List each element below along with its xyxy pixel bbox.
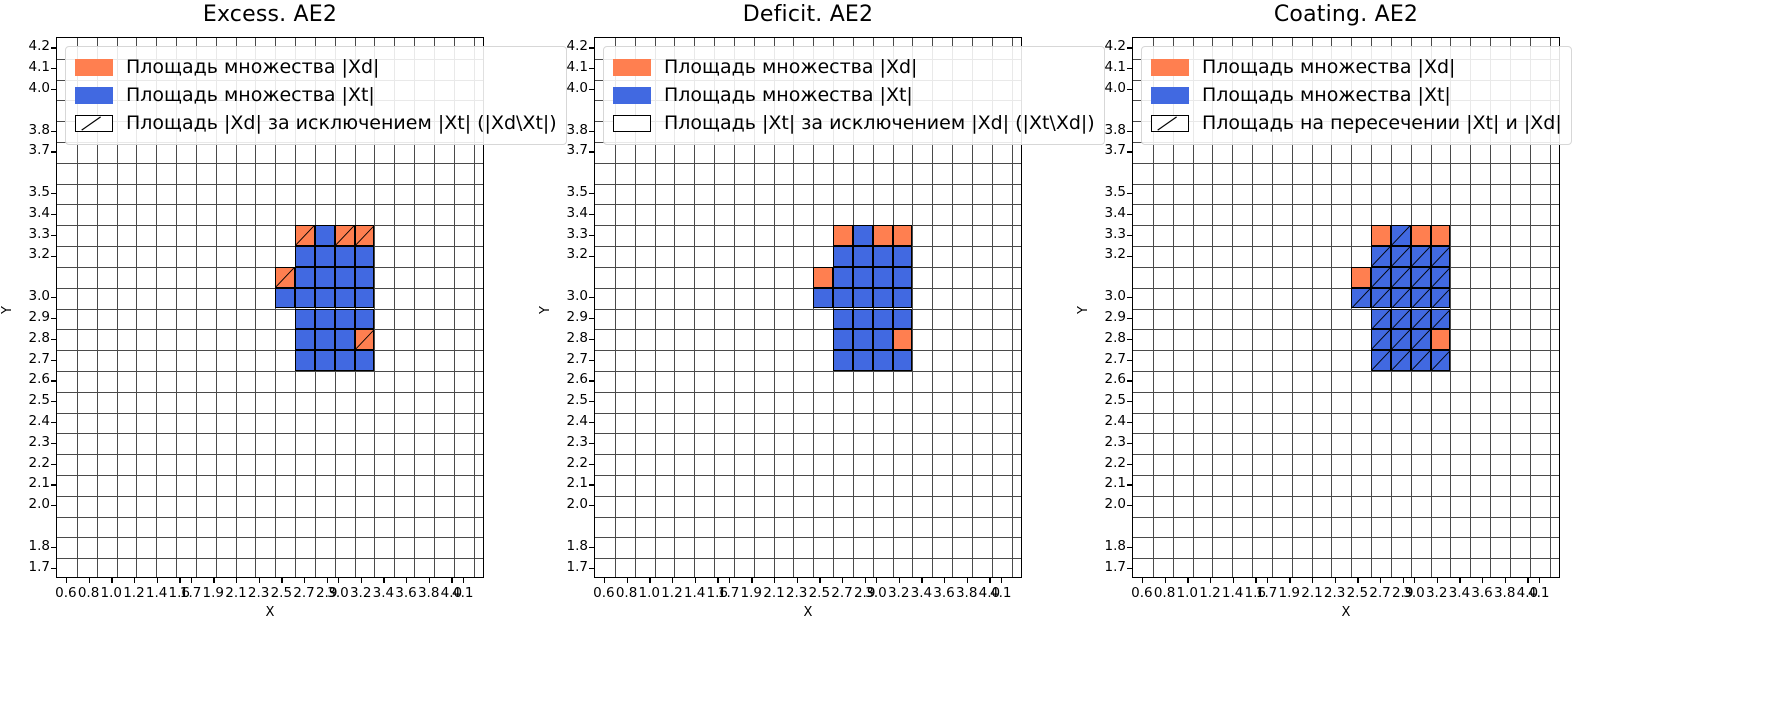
hatch-pattern [1372, 289, 1390, 308]
y-tick-mark [1127, 151, 1132, 152]
legend-row: Площадь множества |Xt| [613, 81, 1095, 109]
grid-cell [1411, 267, 1431, 288]
legend-swatch-xd [75, 59, 113, 76]
x-tick-mark [1165, 578, 1166, 583]
hatch-pattern [1152, 116, 1188, 131]
legend-row: Площадь на пересечении |Xt| и |Xd| [1151, 109, 1562, 137]
hatch-pattern [1392, 330, 1410, 349]
hatch-pattern [1412, 330, 1430, 349]
y-tick-mark [1127, 68, 1132, 69]
y-tick-mark [1127, 422, 1132, 423]
y-tick-mark [1127, 568, 1132, 569]
legend-excess: Площадь множества |Xd|Площадь множества … [65, 46, 567, 145]
grid-cell [1391, 288, 1411, 309]
legend-swatch-xd [613, 59, 651, 76]
hatch-pattern [1412, 247, 1430, 266]
panel-title-coating: Coating. AE2 [1132, 2, 1560, 27]
y-tick-label: 3.4 [1094, 205, 1126, 221]
y-tick-label: 2.2 [1094, 455, 1126, 471]
x-tick-mark [1210, 578, 1211, 583]
y-axis-label: Y [1076, 306, 1091, 314]
hatch-pattern [1352, 289, 1370, 308]
y-tick-mark [1127, 89, 1132, 90]
grid-cell [1411, 225, 1431, 246]
legend-row: Площадь множества |Xd| [75, 53, 557, 81]
hatch-pattern [1392, 310, 1410, 329]
y-tick-mark [1127, 47, 1132, 48]
y-tick-mark [1127, 131, 1132, 132]
x-tick-mark [1357, 578, 1358, 583]
y-tick-mark [1127, 484, 1132, 485]
hatch-pattern [76, 116, 112, 131]
legend-label: Площадь на пересечении |Xt| и |Xd| [1202, 114, 1562, 133]
hatch-pattern [1392, 268, 1410, 287]
hatch-pattern [1432, 268, 1450, 287]
y-tick-label: 3.0 [1094, 288, 1126, 304]
grid-cell [1371, 309, 1391, 330]
x-tick-mark [1505, 578, 1506, 583]
grid-cell [1391, 225, 1411, 246]
legend-swatch-hatch [1151, 115, 1189, 132]
legend-row: Площадь множества |Xt| [1151, 81, 1562, 109]
y-tick-mark [1127, 443, 1132, 444]
y-tick-label: 2.6 [1094, 371, 1126, 387]
x-tick-mark [1289, 578, 1290, 583]
x-tick-mark [1335, 578, 1336, 583]
legend-label: Площадь множества |Xt| [664, 86, 913, 105]
y-tick-mark [1127, 297, 1132, 298]
grid-cell [1411, 329, 1431, 350]
y-tick-label: 3.2 [1094, 246, 1126, 262]
y-tick-mark [1127, 256, 1132, 257]
legend-coating: Площадь множества |Xd|Площадь множества … [1141, 46, 1572, 145]
x-tick-mark [1142, 578, 1143, 583]
hatch-pattern [1372, 310, 1390, 329]
y-tick-label: 3.3 [1094, 226, 1126, 242]
y-tick-mark [1127, 193, 1132, 194]
hatch-pattern [1392, 351, 1410, 370]
x-tick-mark [1437, 578, 1438, 583]
y-tick-label: 2.0 [1094, 496, 1126, 512]
legend-label: Площадь множества |Xd| [1202, 58, 1455, 77]
x-tick-mark [1459, 578, 1460, 583]
y-tick-mark [1127, 339, 1132, 340]
x-tick-mark [1414, 578, 1415, 583]
grid-cell [1371, 288, 1391, 309]
grid-cell [1411, 288, 1431, 309]
hatch-pattern [1432, 310, 1450, 329]
y-tick-mark [1127, 505, 1132, 506]
y-tick-label: 1.7 [1094, 559, 1126, 575]
x-tick-mark [1527, 578, 1528, 583]
hatch-pattern [1372, 330, 1390, 349]
grid-cell [1411, 350, 1431, 371]
y-tick-mark [1127, 464, 1132, 465]
legend-row: Площадь |Xt| за исключением |Xd| (|Xt\Xd… [613, 109, 1095, 137]
y-tick-mark [1127, 547, 1132, 548]
grid-cell [1391, 246, 1411, 267]
grid-cell [1371, 225, 1391, 246]
grid-cell [1351, 288, 1371, 309]
legend-swatch-hatch [75, 115, 113, 132]
y-tick-mark [1127, 360, 1132, 361]
x-axis-label: X [1132, 605, 1560, 620]
legend-label: Площадь |Xd| за исключением |Xt| (|Xd\Xt… [126, 114, 557, 133]
grid-cell [1351, 267, 1371, 288]
grid-cell [1391, 309, 1411, 330]
hatch-pattern [1432, 247, 1450, 266]
grid-cell [1411, 309, 1431, 330]
legend-deficit: Площадь множества |Xd|Площадь множества … [603, 46, 1105, 145]
y-tick-label: 2.4 [1094, 413, 1126, 429]
hatch-pattern [1372, 351, 1390, 370]
grid-cell [1391, 329, 1411, 350]
hatch-pattern [1412, 289, 1430, 308]
x-tick-mark [1233, 578, 1234, 583]
hatch-pattern [1432, 351, 1450, 370]
x-tick-mark [1255, 578, 1256, 583]
legend-swatch-xt [613, 87, 651, 104]
hatch-pattern [1412, 310, 1430, 329]
grid-cell [1431, 225, 1451, 246]
y-tick-label: 2.3 [1094, 434, 1126, 450]
x-tick-mark [1539, 578, 1540, 583]
hatch-pattern [1392, 226, 1410, 245]
x-tick-mark [1312, 578, 1313, 583]
grid-cell [1391, 350, 1411, 371]
y-tick-label: 2.7 [1094, 351, 1126, 367]
legend-label: Площадь |Xt| за исключением |Xd| (|Xt\Xd… [664, 114, 1095, 133]
grid-cell [1431, 267, 1451, 288]
hatch-pattern [1432, 289, 1450, 308]
grid-cell [1391, 267, 1411, 288]
legend-label: Площадь множества |Xd| [126, 58, 379, 77]
grid-cell [1371, 246, 1391, 267]
legend-row: Площадь множества |Xt| [75, 81, 557, 109]
y-tick-mark [1127, 318, 1132, 319]
x-tick-label: 4.1 [1525, 585, 1553, 601]
grid-cell [1371, 350, 1391, 371]
grid-cell [1411, 246, 1431, 267]
hatch-pattern [1412, 351, 1430, 370]
grid-cell [1431, 329, 1451, 350]
grid-cell [1431, 309, 1451, 330]
x-tick-mark [1482, 578, 1483, 583]
legend-label: Площадь множества |Xd| [664, 58, 917, 77]
y-tick-label: 2.5 [1094, 392, 1126, 408]
legend-swatch-xt [75, 87, 113, 104]
y-tick-mark [1127, 214, 1132, 215]
y-tick-mark [1127, 235, 1132, 236]
y-tick-label: 3.5 [1094, 184, 1126, 200]
grid-cell [1371, 267, 1391, 288]
x-tick-mark [1267, 578, 1268, 583]
legend-swatch-xt [1151, 87, 1189, 104]
legend-label: Площадь множества |Xt| [1202, 86, 1451, 105]
hatch-pattern [1412, 268, 1430, 287]
grid-cell [1431, 246, 1451, 267]
y-tick-mark [1127, 401, 1132, 402]
legend-row: Площадь |Xd| за исключением |Xt| (|Xd\Xt… [75, 109, 557, 137]
y-tick-label: 1.8 [1094, 538, 1126, 554]
grid-cell [1431, 350, 1451, 371]
hatch-pattern [1372, 268, 1390, 287]
y-tick-label: 2.9 [1094, 309, 1126, 325]
legend-row: Площадь множества |Xd| [1151, 53, 1562, 81]
grid-cell [1371, 329, 1391, 350]
hatch-pattern [1392, 247, 1410, 266]
figure-root: Excess. AE21.71.82.02.12.22.32.42.52.62.… [0, 0, 1787, 709]
x-tick-mark [1403, 578, 1404, 583]
hatch-pattern [1392, 289, 1410, 308]
y-tick-label: 2.1 [1094, 475, 1126, 491]
y-tick-mark [1127, 380, 1132, 381]
x-tick-mark [1187, 578, 1188, 583]
legend-swatch-xd [1151, 59, 1189, 76]
grid-cell [1431, 288, 1451, 309]
legend-row: Площадь множества |Xd| [613, 53, 1095, 81]
legend-label: Площадь множества |Xt| [126, 86, 375, 105]
y-tick-label: 2.8 [1094, 330, 1126, 346]
x-tick-mark [1380, 578, 1381, 583]
legend-swatch-plain [613, 115, 651, 132]
hatch-pattern [1372, 247, 1390, 266]
